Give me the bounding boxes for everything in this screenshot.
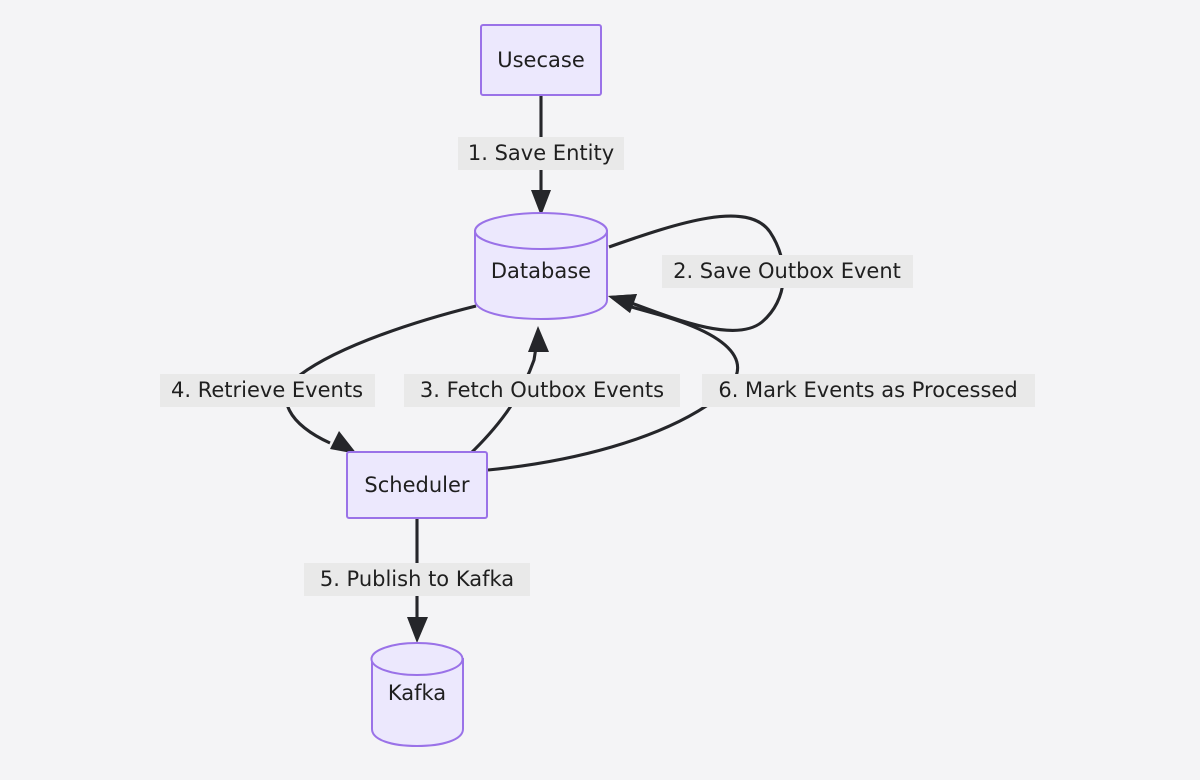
edge-label-3: 3. Fetch Outbox Events [404,374,680,407]
kafka-cylinder-top[interactable] [372,643,463,675]
edge-6-arrowhead [608,294,637,313]
edge-label-4: 4. Retrieve Events [160,374,375,407]
edge-label-6: 6. Mark Events as Processed [702,374,1035,407]
edge-3-arrowhead [528,326,549,352]
node-kafka[interactable]: Kafka [372,643,464,746]
diagram-canvas: Usecase Database Scheduler Kafka 1. Save… [0,0,1200,780]
node-scheduler[interactable]: Scheduler [347,452,487,518]
database-cylinder-top[interactable] [475,213,607,249]
usecase-label: Usecase [497,48,585,72]
edge-label-6-text: 6. Mark Events as Processed [718,378,1017,402]
edge-label-4-text: 4. Retrieve Events [171,378,363,402]
edge-label-1: 1. Save Entity [458,137,624,170]
edge-label-5-text: 5. Publish to Kafka [320,567,514,591]
flowchart-svg: Usecase Database Scheduler Kafka 1. Save… [0,0,1200,780]
kafka-label: Kafka [388,681,446,705]
edge-4-arrowhead [330,431,357,454]
scheduler-label: Scheduler [364,473,469,497]
edge-label-2-text: 2. Save Outbox Event [673,259,901,283]
edge-label-1-text: 1. Save Entity [468,141,614,165]
edge-label-2: 2. Save Outbox Event [662,255,913,288]
node-usecase[interactable]: Usecase [481,25,601,95]
node-database[interactable]: Database [475,213,607,319]
edge-label-5: 5. Publish to Kafka [304,563,530,596]
database-label: Database [491,259,591,283]
edge-label-3-text: 3. Fetch Outbox Events [420,378,664,402]
edge-5-arrowhead [407,617,428,643]
